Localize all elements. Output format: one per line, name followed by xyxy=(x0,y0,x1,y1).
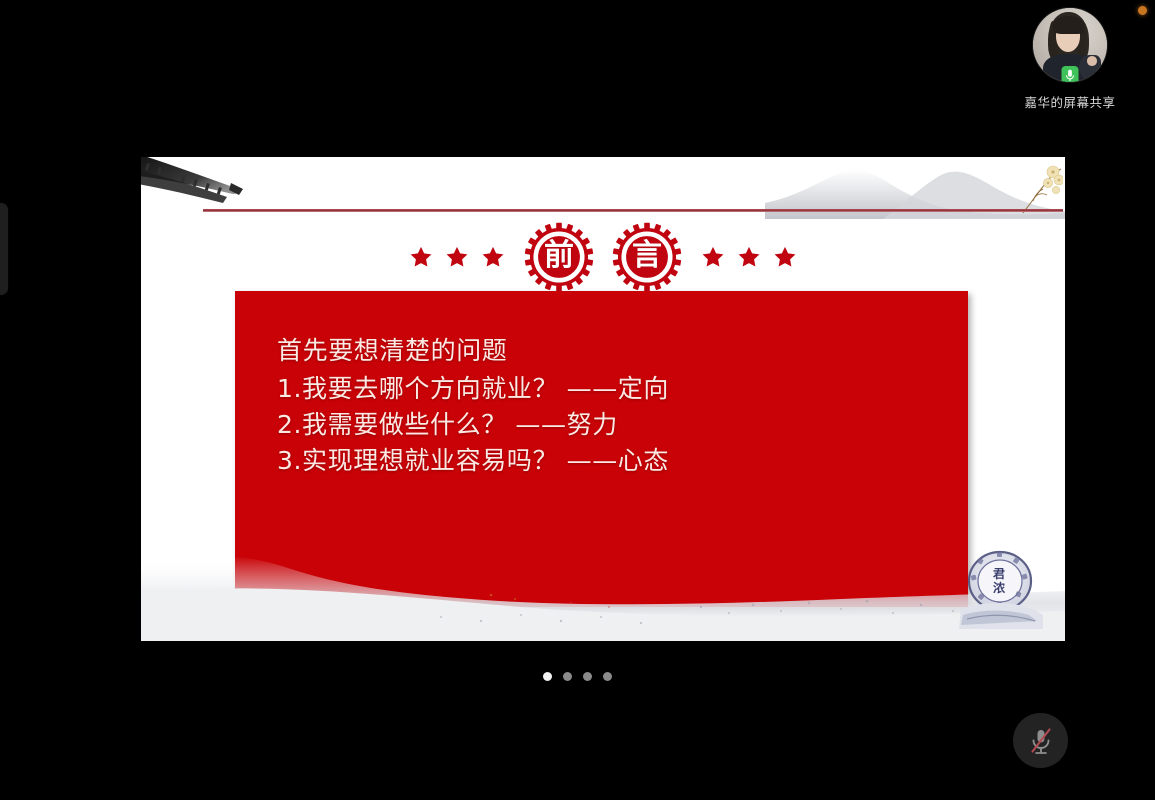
seal-left-character: 前 xyxy=(524,222,594,292)
temple-roof-eave-decoration xyxy=(141,157,257,215)
corner-seal-stamp-decoration: 君 浓 xyxy=(957,547,1043,629)
star-icon xyxy=(700,244,726,270)
mic-muted-icon xyxy=(1028,727,1054,755)
pagination-dot-4[interactable] xyxy=(603,672,612,681)
mic-mute-toggle-button[interactable] xyxy=(1013,713,1068,768)
star-icon xyxy=(736,244,762,270)
side-panel-handle[interactable] xyxy=(0,203,8,295)
star-icon xyxy=(444,244,470,270)
seal-badge-right: 言 xyxy=(612,222,682,292)
pagination-dot-3[interactable] xyxy=(583,672,592,681)
avatar xyxy=(1033,8,1107,82)
pagination-dot-1[interactable] xyxy=(543,672,552,681)
star-icon xyxy=(408,244,434,270)
pagination-dot-2[interactable] xyxy=(563,672,572,681)
seal-badge-left: 前 xyxy=(524,222,594,292)
star-icon xyxy=(772,244,798,270)
header-divider-rule xyxy=(203,209,1063,212)
content-heading: 首先要想清楚的问题 xyxy=(277,333,968,369)
svg-text:君: 君 xyxy=(992,567,1005,581)
star-group-right xyxy=(700,244,798,270)
shared-slide: 前 xyxy=(141,157,1065,641)
mic-active-badge-icon xyxy=(1062,66,1079,82)
star-group-left xyxy=(408,244,506,270)
svg-text:浓: 浓 xyxy=(993,580,1006,595)
slide-header: 前 xyxy=(141,219,1065,295)
presenter-tile[interactable]: 嘉华的屏幕共享 xyxy=(1000,4,1140,109)
content-item-1: 1.我要去哪个方向就业？ ——定向 xyxy=(277,371,968,407)
content-item-3: 3.实现理想就业容易吗？ ——心态 xyxy=(277,443,968,479)
slide-content-text: 首先要想清楚的问题 1.我要去哪个方向就业？ ——定向 2.我需要做些什么？ —… xyxy=(235,291,968,479)
star-icon xyxy=(480,244,506,270)
content-item-2: 2.我需要做些什么？ ——努力 xyxy=(277,407,968,443)
seal-right-character: 言 xyxy=(612,222,682,292)
meeting-stage: 嘉华的屏幕共享 xyxy=(0,0,1155,800)
presenter-name-label: 嘉华的屏幕共享 xyxy=(1000,92,1140,111)
slide-pagination[interactable] xyxy=(0,672,1155,681)
slide-content-card: 首先要想清楚的问题 1.我要去哪个方向就业？ ——定向 2.我需要做些什么？ —… xyxy=(235,291,968,607)
